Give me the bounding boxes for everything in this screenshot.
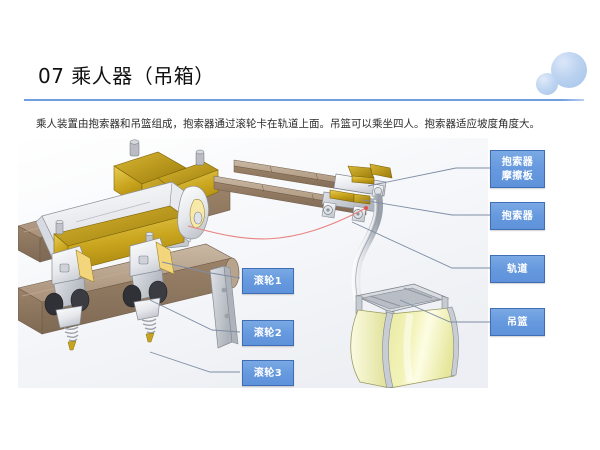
slide-canvas: 07 乘人器（吊箱） 乘人装置由抱索器和吊篮组成，抱索器通过滚轮卡在轨道上面。吊… [0,0,600,450]
callout-cabin[interactable]: 吊篮 [490,308,545,336]
page-title: 07 乘人器（吊箱） [38,60,215,89]
callout-roller-2[interactable]: 滚轮2 [242,320,294,346]
slide-subtitle: 乘人装置由抱索器和吊篮组成，抱索器通过滚轮卡在轨道上面。吊篮可以乘坐四人。抱索器… [36,117,576,131]
callout-rope-grip[interactable]: 抱索器 [490,202,545,230]
assembly-illustration [18,138,488,388]
callout-grip-friction-plate[interactable]: 抱索器 摩擦板 [490,150,545,188]
callout-track[interactable]: 轨道 [490,255,545,283]
callout-roller-3[interactable]: 滚轮3 [242,360,294,386]
title-divider [24,99,584,101]
decor-circle-small-icon [536,73,558,95]
callout-roller-1[interactable]: 滚轮1 [242,268,294,294]
